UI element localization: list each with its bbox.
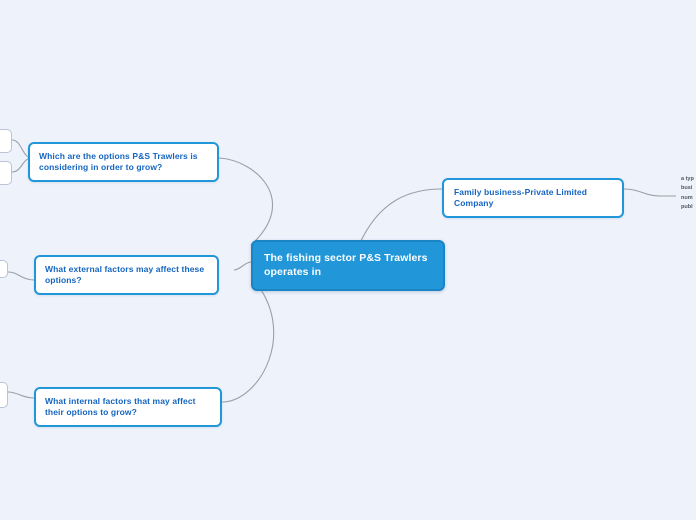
right-edge-text-line-2: busi <box>681 184 694 193</box>
right-edge-text-line-1: a typ <box>681 175 694 184</box>
right-edge-text-line-4: publ <box>681 203 694 212</box>
mindmap-canvas[interactable]: The fishing sector P&S Trawlers operates… <box>0 0 696 520</box>
connector-center-to-family-business <box>360 189 442 243</box>
right-edge-text-fragment: a typ busi num publ <box>681 175 694 212</box>
node-external-factors-label: What external factors may affect these o… <box>45 264 204 285</box>
node-external-factors[interactable]: What external factors may affect these o… <box>34 255 219 295</box>
connector-left-stub-c-to-external <box>8 272 34 280</box>
node-edge-stub-left-middle[interactable] <box>0 260 8 278</box>
connector-family-business-to-right-edge <box>624 189 676 196</box>
connector-left-stub-d-to-internal <box>8 392 34 398</box>
connector-center-to-internal <box>222 277 274 402</box>
node-edge-stub-left-upper-second[interactable] <box>0 161 12 185</box>
central-node[interactable]: The fishing sector P&S Trawlers operates… <box>251 240 445 291</box>
node-family-business-label: Family business-Private Limited Company <box>454 187 587 208</box>
node-edge-stub-left-upper[interactable] <box>0 129 12 153</box>
node-family-business[interactable]: Family business-Private Limited Company <box>442 178 624 218</box>
connector-center-to-options <box>219 158 273 245</box>
central-node-label: The fishing sector P&S Trawlers operates… <box>264 252 428 278</box>
node-options[interactable]: Which are the options P&S Trawlers is co… <box>28 142 219 182</box>
right-edge-text-line-3: num <box>681 194 694 203</box>
node-internal-factors[interactable]: What internal factors that may affect th… <box>34 387 222 427</box>
connector-center-to-external <box>234 262 251 270</box>
node-options-label: Which are the options P&S Trawlers is co… <box>39 151 198 172</box>
node-edge-stub-left-lower[interactable] <box>0 382 8 408</box>
node-internal-factors-label: What internal factors that may affect th… <box>45 396 196 417</box>
